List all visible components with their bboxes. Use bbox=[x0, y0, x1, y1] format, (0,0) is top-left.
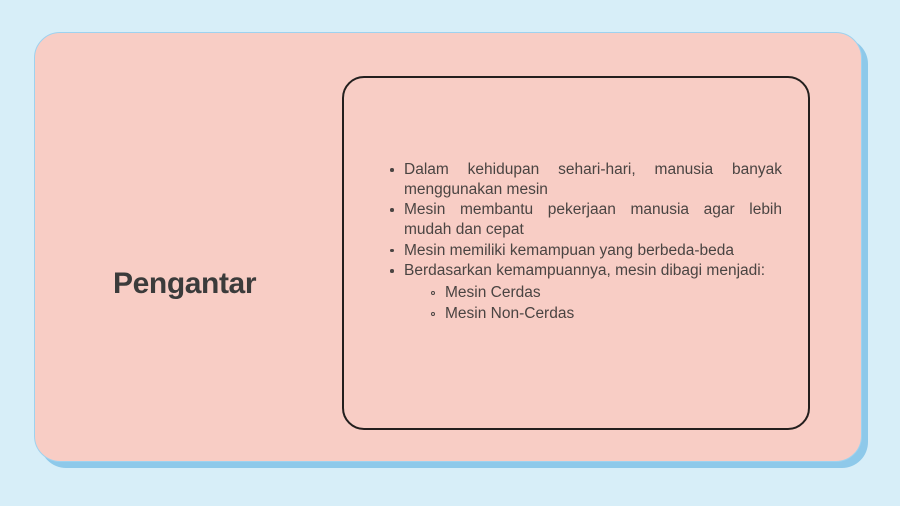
sub-list-item-text: Mesin Non-Cerdas bbox=[445, 305, 574, 322]
sub-list: Mesin Cerdas Mesin Non-Cerdas bbox=[404, 283, 782, 323]
list-item: Mesin memiliki kemampuan yang berbeda-be… bbox=[389, 241, 782, 261]
list-item-text: Berdasarkan kemampuannya, mesin dibagi m… bbox=[404, 262, 765, 279]
list-item-text: Mesin memiliki kemampuan yang berbeda-be… bbox=[404, 242, 734, 259]
sub-list-item-text: Mesin Cerdas bbox=[445, 284, 541, 301]
bullet-dot-icon bbox=[390, 249, 394, 253]
list-item: Mesin membantu pekerjaan manusia agar le… bbox=[389, 200, 782, 239]
slide-stage: Pengantar Dalam kehidupan sehari-hari, m… bbox=[0, 0, 900, 506]
sub-list-item: Mesin Cerdas bbox=[431, 283, 782, 303]
bullet-list: Dalam kehidupan sehari-hari, manusia ban… bbox=[389, 160, 782, 324]
bullet-dot-icon bbox=[390, 269, 394, 273]
list-item: Dalam kehidupan sehari-hari, manusia ban… bbox=[389, 160, 782, 199]
bullet-dot-icon bbox=[390, 168, 394, 172]
page-title: Pengantar bbox=[113, 267, 256, 300]
title-area: Pengantar bbox=[113, 233, 363, 333]
bullet-circle-icon bbox=[431, 312, 435, 316]
list-item-text: Dalam kehidupan sehari-hari, manusia ban… bbox=[404, 161, 782, 198]
bullet-circle-icon bbox=[431, 291, 435, 295]
content-outline-box: Dalam kehidupan sehari-hari, manusia ban… bbox=[342, 76, 810, 430]
slide-card: Pengantar Dalam kehidupan sehari-hari, m… bbox=[34, 32, 862, 462]
bullet-dot-icon bbox=[390, 208, 394, 212]
list-item: Berdasarkan kemampuannya, mesin dibagi m… bbox=[389, 261, 782, 323]
list-item-text: Mesin membantu pekerjaan manusia agar le… bbox=[404, 201, 782, 238]
sub-list-item: Mesin Non-Cerdas bbox=[431, 304, 782, 324]
